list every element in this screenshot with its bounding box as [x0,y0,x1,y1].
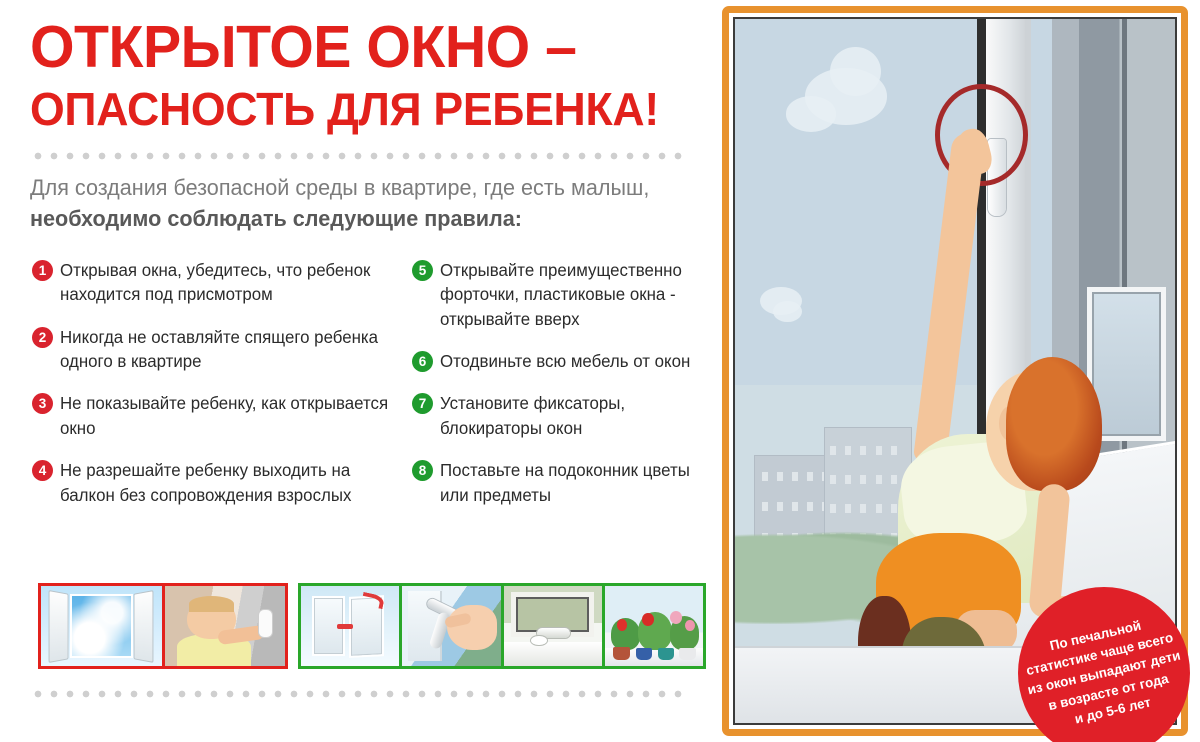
hand-turning-window-handle-photo [399,586,500,666]
rule-item: 8 Поставьте на подоконник цветы или пред… [412,458,712,507]
statistic-badge-text: По печальной статистике чаще всего из ок… [1018,587,1190,742]
rule-text: Открывая окна, убедитесь, что ребенок на… [60,258,392,307]
rule-number-badge: 5 [412,260,433,281]
restrictor-knob-icon [531,636,547,646]
rule-text: Установите фиксаторы, блокираторы окон [440,391,704,440]
flowers-on-windowsill-photo [602,586,703,666]
rule-number-badge: 8 [412,460,433,481]
rule-text: Не показывайте ребенку, как открывается … [60,391,392,440]
flower-pot [613,647,631,660]
sky-area [70,594,133,658]
window-restrictor-lock-photo [501,586,602,666]
rule-number-badge: 7 [412,393,433,414]
rule-number-badge: 3 [32,393,53,414]
rules-column-right: 5 Открывайте преимущественно форточки, п… [412,258,712,525]
window-sill [504,642,602,666]
rules-column-left: 1 Открывая окна, убедитесь, что ребенок … [32,258,402,525]
rule-item: 1 Открывая окна, убедитесь, что ребенок … [32,258,402,307]
poster-title: ОТКРЫТОЕ ОКНО – ОПАСНОСТЬ ДЛЯ РЕБЕНКА! [30,18,690,136]
rule-number-badge: 1 [32,260,53,281]
poster-root: ОТКРЫТОЕ ОКНО – ОПАСНОСТЬ ДЛЯ РЕБЕНКА! Д… [0,0,1200,742]
rule-item: 6 Отодвиньте всю мебель от окон [412,349,712,373]
rule-item: 2 Никогда не оставляйте спящего ребенка … [32,325,402,374]
window-handle-icon [259,610,272,637]
red-flower [642,613,654,626]
red-flower [617,619,628,631]
child-raised-arm [913,131,986,463]
window-tilt-open-diagram [301,586,399,666]
rule-item: 7 Установите фиксаторы, блокираторы окон [412,391,712,440]
photo-strip-safety [298,583,706,669]
rules-section: 1 Открывая окна, убедитесь, что ребенок … [0,258,716,558]
rule-item: 5 Открывайте преимущественно форточки, п… [412,258,712,331]
baby-hair [189,596,235,612]
baby-at-window-handle-photo [162,586,286,666]
flower-pot [636,648,652,660]
open-window-photo [41,586,162,666]
photo-strip-danger [38,583,288,669]
rule-text: Никогда не оставляйте спящего ребенка од… [60,325,392,374]
rule-number-badge: 4 [32,460,53,481]
flower-pot [679,648,696,660]
arrow-icon [337,624,353,629]
rule-item: 3 Не показывайте ребенку, как открываетс… [32,391,402,440]
pink-flower [685,620,695,631]
statistic-badge: По печальной статистике чаще всего из ок… [1018,587,1190,742]
poster-subtitle: Для создания безопасной среды в квартире… [30,174,700,234]
divider-bottom [30,690,690,698]
divider-top [30,152,690,160]
subtitle-line-1: Для создания безопасной среды в квартире… [30,174,673,203]
rule-number-badge: 2 [32,327,53,348]
rule-text: Поставьте на подоконник цветы или предме… [440,458,704,507]
child-hair [1006,357,1103,491]
rule-text: Не разрешайте ребенку выходить на балкон… [60,458,392,507]
rule-text: Открывайте преимущественно форточки, пла… [440,258,704,331]
rule-number-badge: 6 [412,351,433,372]
hand-shape [447,605,496,650]
subtitle-line-2: необходимо соблюдать следующие правила: [30,205,673,234]
left-content-panel: ОТКРЫТОЕ ОКНО – ОПАСНОСТЬ ДЛЯ РЕБЕНКА! Д… [0,0,716,742]
flower-pot [658,648,674,660]
rule-text: Отодвиньте всю мебель от окон [440,349,690,373]
rule-item: 4 Не разрешайте ребенку выходить на балк… [32,458,402,507]
title-line-1: ОТКРЫТОЕ ОКНО – [30,18,670,77]
title-line-2: ОПАСНОСТЬ ДЛЯ РЕБЕНКА! [30,83,670,136]
